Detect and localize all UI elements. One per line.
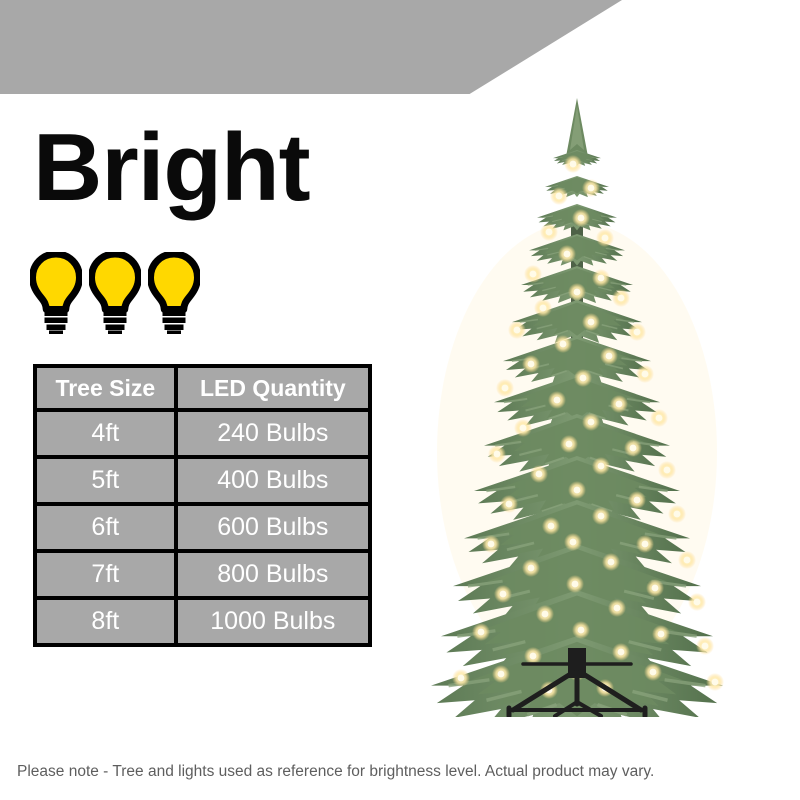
- cell-tree-size: 5ft: [37, 459, 174, 502]
- cell-led-quantity: 600 Bulbs: [178, 506, 368, 549]
- brightness-level-label: Bright: [33, 112, 310, 224]
- light-bulb-icon: [89, 252, 141, 334]
- table-row: 7ft 800 Bulbs: [37, 553, 368, 596]
- cell-tree-size: 8ft: [37, 600, 174, 643]
- led-quantity-table: Tree Size LED Quantity 4ft 240 Bulbs 5ft…: [33, 364, 372, 647]
- cell-tree-size: 7ft: [37, 553, 174, 596]
- light-bulb-icon: [148, 252, 200, 334]
- column-header-tree-size: Tree Size: [37, 368, 174, 408]
- table-row: 8ft 1000 Bulbs: [37, 600, 368, 643]
- brightness-bulb-rating: [30, 252, 200, 334]
- cell-led-quantity: 240 Bulbs: [178, 412, 368, 455]
- table-row: 5ft 400 Bulbs: [37, 459, 368, 502]
- cell-led-quantity: 800 Bulbs: [178, 553, 368, 596]
- christmas-tree-product-image: [405, 92, 795, 717]
- cell-tree-size: 6ft: [37, 506, 174, 549]
- footer-note: Please note - Tree and lights used as re…: [17, 763, 654, 781]
- column-header-led-quantity: LED Quantity: [178, 368, 368, 408]
- table-row: 6ft 600 Bulbs: [37, 506, 368, 549]
- cell-tree-size: 4ft: [37, 412, 174, 455]
- cell-led-quantity: 1000 Bulbs: [178, 600, 368, 643]
- cell-led-quantity: 400 Bulbs: [178, 459, 368, 502]
- light-bulb-icon: [30, 252, 82, 334]
- table-row: 4ft 240 Bulbs: [37, 412, 368, 455]
- table-header-row: Tree Size LED Quantity: [37, 368, 368, 408]
- header-banner: [0, 0, 622, 94]
